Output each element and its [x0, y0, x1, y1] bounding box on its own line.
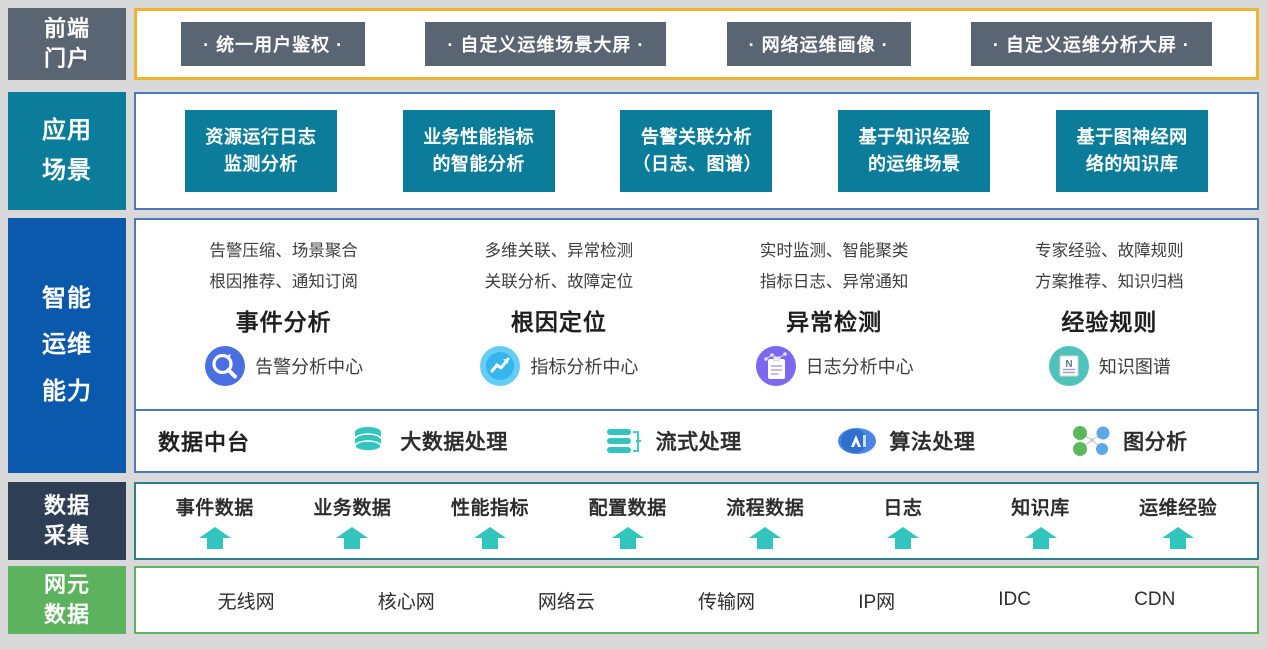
row-network-element-data: 网元 数据 无线网 核心网 网络云 传输网 IP网 IDC CDN: [8, 566, 1259, 634]
capability-desc-line2: 方案推荐、知识归档: [1035, 267, 1184, 298]
acquisition-item-label: 流程数据: [726, 493, 804, 520]
row-label-line: 网元: [44, 570, 90, 600]
capability-title: 根因定位: [511, 303, 607, 337]
capability-column[interactable]: 多维关联、异常检测 关联分析、故障定位 根因定位 指标分析中心: [434, 236, 684, 387]
row-label-line: 前端: [44, 14, 90, 44]
row-application-scenarios: 应用 场景 资源运行日志 监测分析 业务性能指标 的智能分析 告警关联分析 （日…: [8, 92, 1259, 210]
application-scenarios-panel: 资源运行日志 监测分析 业务性能指标 的智能分析 告警关联分析 （日志、图谱） …: [134, 92, 1259, 210]
network-element-item[interactable]: IP网: [858, 587, 895, 614]
scenario-box[interactable]: 基于图神经网 络的知识库: [1056, 110, 1208, 192]
row-label-data-acquisition: 数据 采集: [8, 482, 126, 560]
scenario-box-line1: 业务性能指标: [415, 124, 543, 151]
row-label-line: 智能: [42, 283, 92, 315]
row-label-line: 采集: [44, 521, 90, 551]
network-element-item[interactable]: CDN: [1134, 589, 1175, 611]
network-element-item[interactable]: 网络云: [538, 587, 595, 614]
acquisition-item-label: 日志: [883, 493, 922, 520]
capability-center[interactable]: 告警分析中心: [204, 345, 363, 387]
row-label-line: 应用: [42, 115, 92, 147]
network-element-item[interactable]: 无线网: [218, 587, 275, 614]
acquisition-item[interactable]: 流程数据: [717, 484, 813, 558]
data-platform-title: 数据中台: [158, 425, 250, 457]
capability-desc-line2: 根因推荐、通知订阅: [209, 267, 358, 298]
up-arrow-icon: [745, 525, 785, 549]
data-platform-item[interactable]: 图分析: [1070, 424, 1188, 458]
scenario-box-line1: 资源运行日志: [197, 124, 325, 151]
acquisition-item-label: 业务数据: [313, 493, 391, 520]
row-label-network-element-data: 网元 数据: [8, 566, 126, 634]
portal-chip[interactable]: · 统一用户鉴权 ·: [181, 22, 365, 66]
svg-text:N: N: [1065, 359, 1072, 370]
up-arrow-icon: [1158, 525, 1198, 549]
capability-center[interactable]: 指标分析中心: [479, 345, 638, 387]
graph-network-icon: [1070, 424, 1112, 458]
row-label-line: 数据: [44, 491, 90, 521]
scenario-box-line1: 基于知识经验: [850, 124, 978, 151]
data-platform-items: 大数据处理: [300, 424, 1235, 458]
up-arrow-icon: [332, 525, 372, 549]
up-arrow-icon: [608, 525, 648, 549]
acquisition-item[interactable]: 业务数据: [304, 484, 400, 558]
portal-chip[interactable]: · 自定义运维分析大屏 ·: [971, 22, 1212, 66]
capability-desc-line1: 实时监测、智能聚类: [760, 236, 909, 267]
scenario-box-line2: 的智能分析: [415, 151, 543, 178]
network-element-item[interactable]: 传输网: [698, 587, 755, 614]
data-platform-item[interactable]: 算法处理: [836, 424, 975, 458]
capability-column[interactable]: 专家经验、故障规则 方案推荐、知识归档 经验规则 N: [984, 236, 1234, 387]
network-element-item[interactable]: IDC: [998, 589, 1031, 611]
capability-desc-line1: 告警压缩、场景聚合: [209, 236, 358, 267]
data-acquisition-panel: 事件数据 业务数据 性能指标 配置数据 流程数据 日志: [134, 482, 1259, 560]
row-label-front-portal: 前端 门户: [8, 8, 126, 80]
knowledge-doc-icon: N: [1048, 345, 1090, 387]
data-platform-item-label: 大数据处理: [400, 426, 508, 456]
capability-center-label: 告警分析中心: [255, 353, 363, 379]
database-icon: [347, 424, 389, 458]
acquisition-item[interactable]: 运维经验: [1130, 484, 1226, 558]
up-arrow-icon: [883, 525, 923, 549]
capability-title: 异常检测: [786, 303, 882, 337]
stream-icon: [603, 424, 645, 458]
scenario-box-line1: 告警关联分析: [632, 124, 760, 151]
row-label-line: 数据: [44, 600, 90, 630]
row-label-application-scenarios: 应用 场景: [8, 92, 126, 210]
scenario-box-line2: 监测分析: [197, 151, 325, 178]
row-label-line: 场景: [42, 155, 92, 187]
scenario-box[interactable]: 基于知识经验 的运维场景: [838, 110, 990, 192]
row-data-acquisition: 数据 采集 事件数据 业务数据 性能指标 配置数据 流程数据: [8, 482, 1259, 560]
portal-chip[interactable]: · 自定义运维场景大屏 ·: [425, 22, 666, 66]
architecture-diagram: 前端 门户 · 统一用户鉴权 · · 自定义运维场景大屏 · · 网络运维画像 …: [0, 0, 1267, 649]
acquisition-item[interactable]: 事件数据: [167, 484, 263, 558]
up-arrow-icon: [195, 525, 235, 549]
capability-desc-line2: 关联分析、故障定位: [485, 267, 634, 298]
acquisition-item[interactable]: 性能指标: [442, 484, 538, 558]
up-arrow-icon: [470, 525, 510, 549]
row-front-portal: 前端 门户 · 统一用户鉴权 · · 自定义运维场景大屏 · · 网络运维画像 …: [8, 8, 1259, 80]
row-aiops-capability: 智能 运维 能力 告警压缩、场景聚合 根因推荐、通知订阅 事件分析: [8, 218, 1259, 473]
data-platform-item[interactable]: 大数据处理: [347, 424, 508, 458]
aiops-capability-panel: 告警压缩、场景聚合 根因推荐、通知订阅 事件分析 告警分析中心: [134, 218, 1259, 411]
row-label-line: 能力: [42, 376, 92, 408]
acquisition-item-label: 事件数据: [176, 493, 254, 520]
capability-center-label: 知识图谱: [1099, 353, 1171, 379]
portal-chip[interactable]: · 网络运维画像 ·: [727, 22, 911, 66]
log-clipboard-icon: [755, 345, 797, 387]
aiops-content-stack: 告警压缩、场景聚合 根因推荐、通知订阅 事件分析 告警分析中心: [134, 218, 1259, 473]
scenario-box-line2: （日志、图谱）: [632, 151, 760, 178]
scenario-box[interactable]: 资源运行日志 监测分析: [185, 110, 337, 192]
front-portal-panel: · 统一用户鉴权 · · 自定义运维场景大屏 · · 网络运维画像 · · 自定…: [134, 8, 1259, 80]
capability-title: 事件分析: [236, 303, 332, 337]
data-platform-panel: 数据中台 大数据处理: [134, 411, 1259, 473]
acquisition-item-label: 运维经验: [1139, 493, 1217, 520]
metric-trend-icon: [479, 345, 521, 387]
ai-icon: [836, 424, 878, 458]
scenario-box-line2: 络的知识库: [1068, 151, 1196, 178]
alert-search-icon: [204, 345, 246, 387]
network-element-panel: 无线网 核心网 网络云 传输网 IP网 IDC CDN: [134, 566, 1259, 634]
capability-center[interactable]: 日志分析中心: [755, 345, 914, 387]
scenario-box-line2: 的运维场景: [850, 151, 978, 178]
data-platform-item[interactable]: 流式处理: [603, 424, 742, 458]
data-platform-item-label: 图分析: [1123, 426, 1188, 456]
capability-desc-line1: 专家经验、故障规则: [1035, 236, 1184, 267]
row-label-aiops-capability: 智能 运维 能力: [8, 218, 126, 473]
scenario-box[interactable]: 业务性能指标 的智能分析: [403, 110, 555, 192]
capability-column[interactable]: 告警压缩、场景聚合 根因推荐、通知订阅 事件分析 告警分析中心: [159, 236, 409, 387]
capability-center[interactable]: N 知识图谱: [1048, 345, 1171, 387]
acquisition-item[interactable]: 知识库: [993, 484, 1089, 558]
scenario-box[interactable]: 告警关联分析 （日志、图谱）: [620, 110, 772, 192]
capability-column[interactable]: 实时监测、智能聚类 指标日志、异常通知 异常检测: [709, 236, 959, 387]
data-platform-item-label: 流式处理: [656, 426, 742, 456]
acquisition-item-label: 配置数据: [589, 493, 667, 520]
network-element-item[interactable]: 核心网: [378, 587, 435, 614]
acquisition-item[interactable]: 配置数据: [580, 484, 676, 558]
acquisition-item[interactable]: 日志: [855, 484, 951, 558]
capability-center-label: 日志分析中心: [806, 353, 914, 379]
capability-title: 经验规则: [1061, 303, 1157, 337]
capability-desc-line2: 指标日志、异常通知: [760, 267, 909, 298]
acquisition-item-label: 性能指标: [451, 493, 529, 520]
data-platform-item-label: 算法处理: [889, 426, 975, 456]
scenario-box-line1: 基于图神经网: [1068, 124, 1196, 151]
row-label-line: 门户: [44, 44, 90, 74]
acquisition-item-label: 知识库: [1011, 493, 1070, 520]
capability-desc-line1: 多维关联、异常检测: [485, 236, 634, 267]
up-arrow-icon: [1021, 525, 1061, 549]
row-label-line: 运维: [42, 329, 92, 361]
capability-center-label: 指标分析中心: [530, 353, 638, 379]
